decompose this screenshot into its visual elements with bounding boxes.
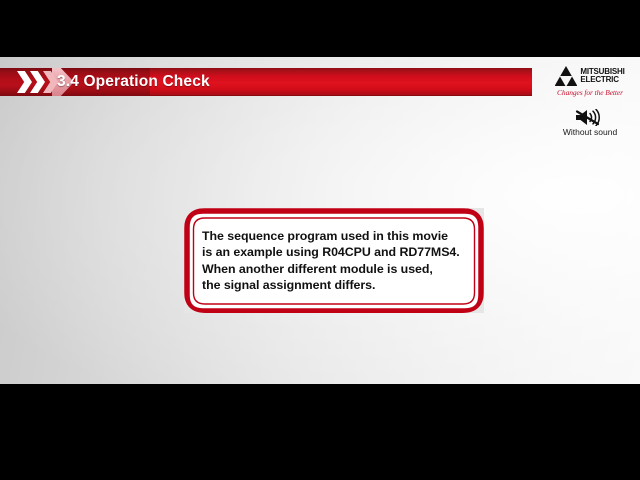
logo-row: MITSUBISHI ELECTRIC [546, 65, 634, 87]
note-callout-box: The sequence program used in this movie … [184, 208, 484, 313]
mitsubishi-electric-logo: MITSUBISHI ELECTRIC Changes for the Bett… [546, 65, 634, 97]
speaker-muted-icon [575, 109, 605, 126]
logo-line-2: ELECTRIC [580, 76, 624, 85]
sound-label: Without sound [546, 127, 634, 137]
video-viewport: 3.4 Operation Check MITSUBISHI ELECTRIC … [0, 0, 640, 480]
callout-line-4: the signal assignment differs. [202, 277, 470, 293]
logo-wordmark: MITSUBISHI ELECTRIC [580, 68, 624, 85]
section-title-bar: 3.4 Operation Check [0, 68, 532, 96]
section-title-text: 3.4 Operation Check [57, 68, 210, 96]
chevron-right-icon-3 [43, 71, 58, 93]
logo-tagline: Changes for the Better [546, 88, 634, 97]
callout-text: The sequence program used in this movie … [202, 228, 470, 293]
callout-line-1: The sequence program used in this movie [202, 228, 470, 244]
letterbox-bottom [0, 384, 640, 480]
sound-indicator: Without sound [546, 109, 634, 137]
slide-content-area: 3.4 Operation Check MITSUBISHI ELECTRIC … [0, 57, 640, 384]
callout-line-3: When another different module is used, [202, 261, 470, 277]
callout-line-2: is an example using R04CPU and RD77MS4. [202, 244, 470, 260]
mitsubishi-three-diamonds-icon [555, 66, 577, 86]
letterbox-top [0, 0, 640, 57]
